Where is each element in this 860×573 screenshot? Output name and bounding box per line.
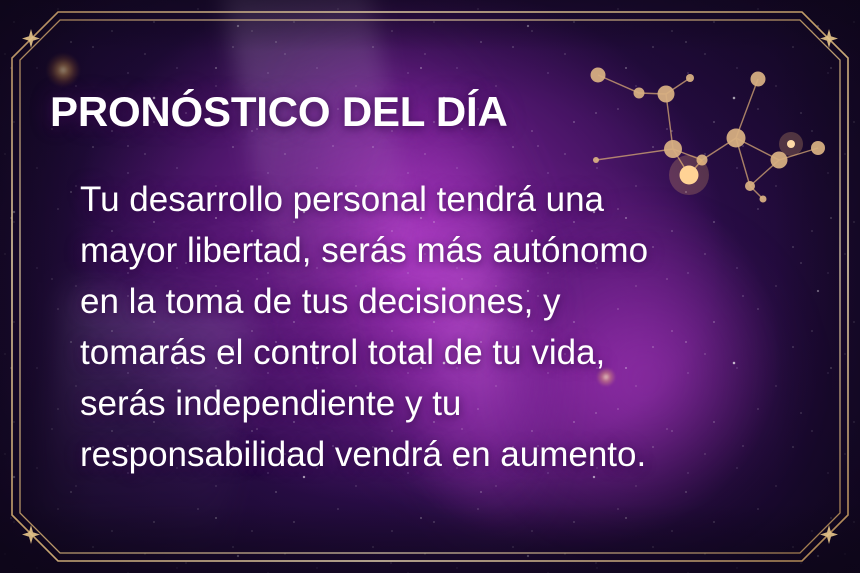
text-content-layer: PRONÓSTICO DEL DÍA Tu desarrollo persona…: [0, 0, 860, 573]
body-line: responsabilidad vendrá en aumento.: [80, 429, 800, 480]
body-line: mayor libertad, serás más autónomo: [80, 225, 800, 276]
forecast-body-text: Tu desarrollo personal tendrá una mayor …: [80, 174, 800, 480]
horoscope-card: PRONÓSTICO DEL DÍA Tu desarrollo persona…: [0, 0, 860, 573]
body-line: en la toma de tus decisiones, y: [80, 276, 800, 327]
body-line: tomarás el control total de tu vida,: [80, 327, 800, 378]
body-line: serás independiente y tu: [80, 378, 800, 429]
body-line: Tu desarrollo personal tendrá una: [80, 174, 800, 225]
page-title: PRONÓSTICO DEL DÍA: [50, 88, 508, 136]
